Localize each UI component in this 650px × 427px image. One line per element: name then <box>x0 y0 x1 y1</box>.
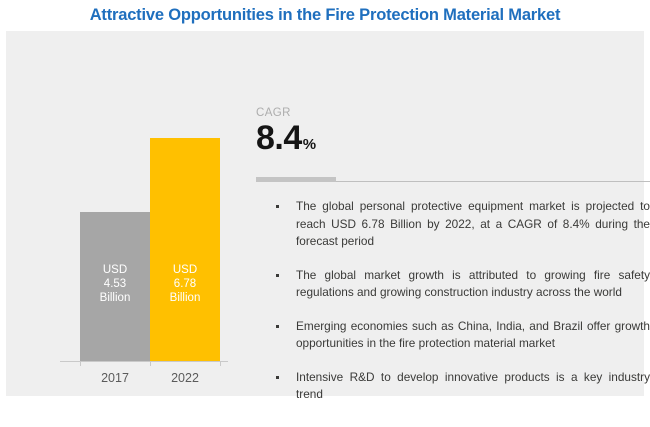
page-title: Attractive Opportunities in the Fire Pro… <box>90 6 561 25</box>
bullet-dot-icon <box>276 376 279 379</box>
chart-category-labels: 2017 2022 <box>80 371 220 385</box>
chart-axis-line <box>60 361 228 362</box>
details-column: CAGR 8.4 % The global personal protectiv… <box>238 62 650 427</box>
axis-tick-middle <box>150 361 151 366</box>
bar-chart: USD 4.53 Billion USD 6.78 Billion 2017 2 <box>30 111 245 396</box>
bullet-list: The global personal protective equipment… <box>256 198 650 404</box>
chart-plot-area: USD 4.53 Billion USD 6.78 Billion 2017 2 <box>30 111 245 361</box>
axis-tick-left <box>80 361 81 366</box>
content-panel: USD 4.53 Billion USD 6.78 Billion 2017 2 <box>6 31 644 396</box>
list-item-text: The global market growth is attributed t… <box>296 267 650 302</box>
list-item: The global personal protective equipment… <box>256 198 650 251</box>
bar-column-2022: USD 6.78 Billion <box>150 111 220 361</box>
category-label-2017: 2017 <box>80 371 150 385</box>
title-bar: Attractive Opportunities in the Fire Pro… <box>0 0 650 31</box>
bullet-dot-icon <box>276 205 279 208</box>
list-item-text: Emerging economies such as China, India,… <box>296 318 650 353</box>
bar-2017[interactable]: USD 4.53 Billion <box>80 212 150 361</box>
cagr-value-row: 8.4 % <box>256 120 316 156</box>
bar-2022[interactable]: USD 6.78 Billion <box>150 138 220 361</box>
cagr-label: CAGR <box>256 107 316 119</box>
chart-bars: USD 4.53 Billion USD 6.78 Billion <box>80 111 220 361</box>
list-item: Emerging economies such as China, India,… <box>256 318 650 353</box>
cagr-percent-sign: % <box>303 136 316 153</box>
infographic-root: Attractive Opportunities in the Fire Pro… <box>0 0 650 402</box>
category-label-2022: 2022 <box>150 371 220 385</box>
list-item-text: Intensive R&D to develop innovative prod… <box>296 369 650 404</box>
list-item-text: The global personal protective equipment… <box>296 198 650 251</box>
cagr-block: CAGR 8.4 % <box>256 107 316 156</box>
axis-tick-right <box>220 361 221 366</box>
list-item: Intensive R&D to develop innovative prod… <box>256 369 650 404</box>
divider-accent-segment <box>256 177 336 182</box>
list-item: The global market growth is attributed t… <box>256 267 650 302</box>
bar-value-label-2022: USD 6.78 Billion <box>170 263 201 361</box>
cagr-value: 8.4 <box>256 120 302 156</box>
section-divider <box>256 177 650 182</box>
bullet-dot-icon <box>276 325 279 328</box>
divider-rule <box>336 181 650 182</box>
bar-value-label-2017: USD 4.53 Billion <box>100 263 131 361</box>
bullet-dot-icon <box>276 274 279 277</box>
bar-column-2017: USD 4.53 Billion <box>80 111 150 361</box>
